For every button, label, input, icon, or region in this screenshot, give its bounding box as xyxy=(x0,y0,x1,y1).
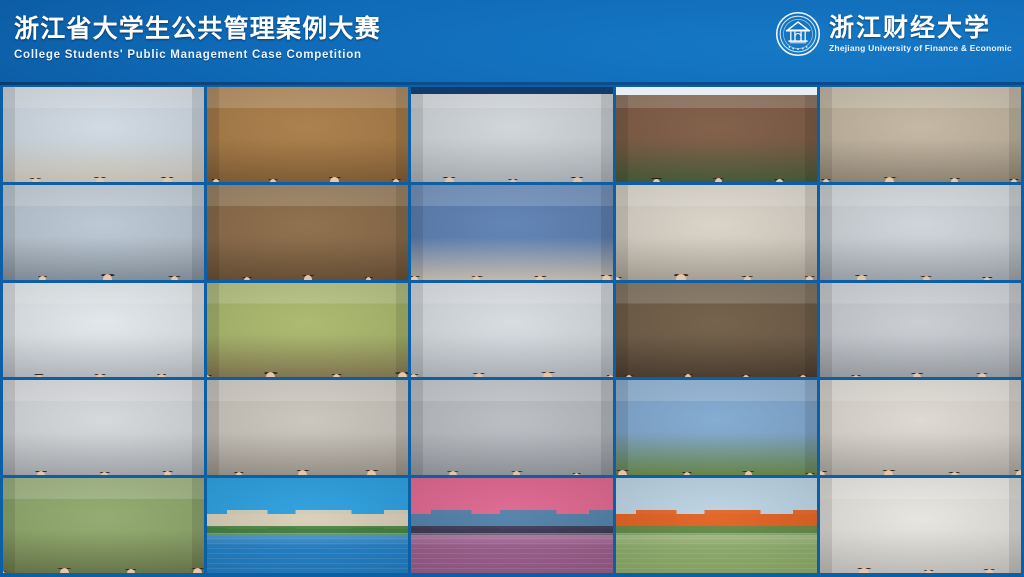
team-group-photo xyxy=(820,87,1021,182)
photo-person-head xyxy=(510,179,516,182)
team-group-photo xyxy=(411,380,612,475)
team-group-photo xyxy=(820,185,1021,280)
team-group-photo xyxy=(207,283,408,378)
photo-cell xyxy=(820,478,1021,573)
photo-person-head xyxy=(715,178,722,182)
photo-grid xyxy=(0,85,1024,577)
photo-cell xyxy=(411,185,612,280)
photo-person-head xyxy=(266,372,275,377)
photo-person-head xyxy=(744,276,751,280)
photo-person-head xyxy=(608,375,612,377)
photo-person-head xyxy=(164,471,171,475)
photo-cell xyxy=(3,283,204,378)
photo-person-head xyxy=(806,276,813,280)
photo-cell xyxy=(3,185,204,280)
photo-person-head xyxy=(602,275,611,280)
team-group-photo xyxy=(207,87,408,182)
photo-top-strip xyxy=(616,87,817,95)
team-group-photo xyxy=(411,87,612,182)
team-group-photo xyxy=(820,478,1021,573)
photo-person-head xyxy=(398,372,407,377)
photo-cell xyxy=(411,380,612,475)
competition-banner-page: 浙江省大学生公共管理案例大赛 College Students' Public … xyxy=(0,0,1024,577)
photo-person-head xyxy=(913,373,921,377)
photo-person-head xyxy=(60,568,69,573)
photo-cell xyxy=(207,380,408,475)
photo-person-head xyxy=(951,472,958,476)
photo-person-head xyxy=(684,472,690,475)
photo-person-head xyxy=(333,374,340,378)
photo-person-head xyxy=(475,373,483,378)
team-group-photo xyxy=(3,380,204,475)
photo-person-head xyxy=(127,569,135,573)
photo-cell xyxy=(207,478,408,573)
photo-person-head xyxy=(885,177,894,182)
university-logo-text: 浙江财经大学 Zhejiang University of Finance & … xyxy=(829,14,1012,54)
photo-person-head xyxy=(244,277,250,280)
photo-cell xyxy=(411,478,612,573)
photo-person-head xyxy=(823,179,829,182)
photo-person-head xyxy=(304,275,312,279)
photo-cell xyxy=(616,283,817,378)
team-group-photo xyxy=(207,380,408,475)
photo-person-head xyxy=(685,374,691,377)
photo-person-head xyxy=(745,471,753,475)
photo-person-head xyxy=(859,568,868,573)
campus-scenery-photo xyxy=(616,478,817,573)
photo-cell xyxy=(616,87,817,182)
university-logo: 浙江财经大学 Zhejiang University of Finance & … xyxy=(775,11,1012,57)
photo-cell xyxy=(820,380,1021,475)
campus-scenery-photo xyxy=(411,478,612,573)
photo-person-head xyxy=(986,569,993,573)
photo-person-head xyxy=(653,179,660,182)
photo-person-head xyxy=(449,471,457,475)
photo-person-head xyxy=(96,177,104,182)
photo-person-head xyxy=(445,177,454,182)
photo-person-head xyxy=(857,275,865,280)
photo-cell xyxy=(616,185,817,280)
team-group-photo xyxy=(820,380,1021,475)
photo-cell xyxy=(207,283,408,378)
photo-person-head xyxy=(393,179,399,182)
team-group-photo xyxy=(616,380,817,475)
photo-cell xyxy=(820,87,1021,182)
photo-cell xyxy=(820,283,1021,378)
photo-person-head xyxy=(411,276,417,280)
page-title-chinese: 浙江省大学生公共管理案例大赛 xyxy=(14,14,381,43)
photo-person-head xyxy=(366,277,372,279)
university-name-chinese: 浙江财经大学 xyxy=(829,14,1012,41)
page-title-english: College Students' Public Management Case… xyxy=(14,49,381,62)
photo-person-head xyxy=(807,473,813,476)
photo-person-head xyxy=(270,179,276,182)
title-block: 浙江省大学生公共管理案例大赛 College Students' Public … xyxy=(14,14,381,62)
photo-person-head xyxy=(39,276,46,279)
photo-person-head xyxy=(103,274,112,279)
team-group-photo xyxy=(207,185,408,280)
team-group-photo xyxy=(3,185,204,280)
team-group-photo xyxy=(3,478,204,573)
team-group-photo xyxy=(411,283,612,378)
photo-person-head xyxy=(951,178,958,181)
photo-person-head xyxy=(925,570,931,573)
photo-cell xyxy=(616,478,817,573)
photo-person-head xyxy=(96,374,103,378)
photo-person-head xyxy=(298,470,307,475)
photo-person-head xyxy=(743,375,749,377)
photo-person-head xyxy=(853,375,859,378)
photo-person-head xyxy=(213,179,219,182)
photo-person-head xyxy=(1016,470,1021,475)
photo-cell xyxy=(3,478,204,573)
photo-person-head xyxy=(923,276,930,280)
photo-cell xyxy=(820,185,1021,280)
photo-person-head xyxy=(163,177,172,182)
photo-cell xyxy=(207,185,408,280)
photo-cell xyxy=(207,87,408,182)
photo-person-head xyxy=(573,177,582,182)
photo-person-head xyxy=(978,373,986,377)
photo-person-head xyxy=(330,177,338,181)
team-group-photo xyxy=(820,283,1021,378)
team-group-photo xyxy=(411,185,612,280)
photo-person-head xyxy=(158,374,165,377)
photo-person-head xyxy=(367,470,376,475)
team-group-photo xyxy=(616,87,817,182)
photo-cell xyxy=(3,380,204,475)
photo-cell xyxy=(411,87,612,182)
photo-person-head xyxy=(37,471,45,475)
photo-person-head xyxy=(513,471,520,475)
photo-person-head xyxy=(32,178,39,182)
photo-person-head xyxy=(236,472,242,475)
photo-cell xyxy=(3,87,204,182)
team-group-photo xyxy=(616,283,817,378)
university-name-english: Zhejiang University of Finance & Economi… xyxy=(829,43,1012,54)
team-group-photo xyxy=(616,185,817,280)
university-crest-icon xyxy=(775,11,821,57)
photo-cell xyxy=(411,283,612,378)
team-group-photo xyxy=(3,283,204,378)
photo-person-head xyxy=(171,276,179,280)
photo-person-head xyxy=(776,179,782,182)
photo-person-head xyxy=(676,274,685,279)
photo-cell xyxy=(616,380,817,475)
campus-scenery-photo xyxy=(207,478,408,573)
photo-top-strip xyxy=(411,87,612,94)
photo-person-head xyxy=(884,470,893,475)
team-group-photo xyxy=(3,87,204,182)
header-banner: 浙江省大学生公共管理案例大赛 College Students' Public … xyxy=(0,0,1024,85)
